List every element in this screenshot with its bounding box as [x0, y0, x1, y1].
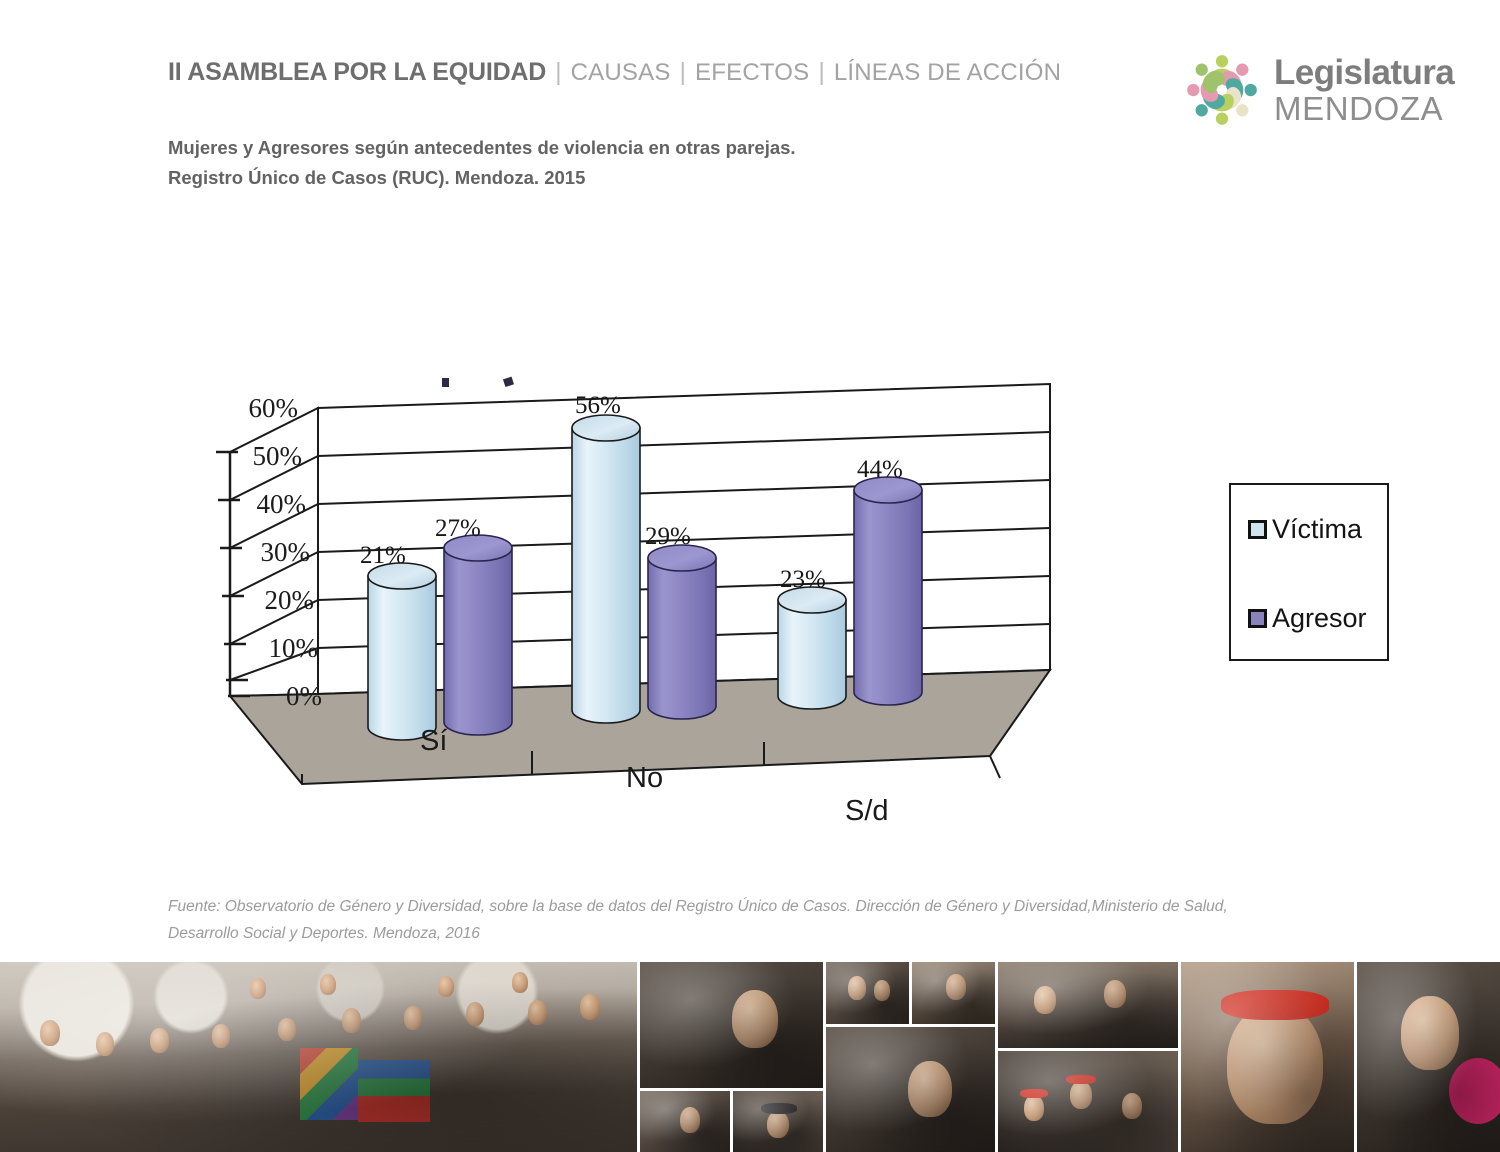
circular-people-rosette-icon [1181, 49, 1263, 131]
data-label-si-agresor: 27% [435, 515, 481, 543]
photo-woman-short-hair-speaking [826, 1027, 995, 1152]
bar-no-victima [572, 415, 640, 723]
bar-si-victima [368, 563, 436, 740]
y-tick-60: 60% [188, 393, 298, 424]
wiphala-flag [300, 1048, 358, 1120]
photo-two-women-desk [826, 962, 909, 1024]
source-line-2: Desarrollo Social y Deportes. Mendoza, 2… [168, 920, 1418, 947]
photo-col-2 [826, 962, 995, 1152]
photo-elder-woman-red-headband [1181, 962, 1354, 1152]
data-label-si-victima: 21% [360, 542, 406, 570]
legend-label-agresor: Agresor [1272, 603, 1367, 634]
header-item-efectos: EFECTOS [695, 59, 809, 87]
chart-3d-cylinder: 60% 50% 40% 30% 20% 10% 0% [190, 370, 1110, 850]
logo-wordmark: Legislatura MENDOZA [1274, 55, 1454, 125]
subtitle-line-2: Registro Único de Casos (RUC). Mendoza. … [168, 163, 796, 193]
bar-sd-agresor [854, 477, 922, 705]
slide-page: II ASAMBLEA POR LA EQUIDAD | CAUSAS | EF… [0, 0, 1500, 1152]
photo-blonde-woman-pink-sign [1357, 962, 1500, 1152]
logo-line-2: MENDOZA [1274, 92, 1454, 125]
photo-women-audience [640, 1091, 730, 1152]
legend-item-agresor[interactable]: Agresor [1248, 603, 1367, 634]
photo-collage-strip [0, 962, 1500, 1152]
photo-col-1 [640, 962, 823, 1152]
x-label-sd: S/d [845, 795, 889, 828]
header-separator-1: | [546, 58, 571, 87]
y-tick-0: 0% [212, 681, 322, 712]
photo-col-3 [998, 962, 1178, 1152]
y-tick-10: 10% [208, 633, 318, 664]
x-label-si: Sí [420, 725, 447, 758]
page-header: II ASAMBLEA POR LA EQUIDAD | CAUSAS | EF… [168, 58, 1061, 87]
legend-item-victima[interactable]: Víctima [1248, 514, 1362, 545]
source-note: Fuente: Observatorio de Género y Diversi… [168, 893, 1418, 947]
photo-row-1 [640, 1091, 823, 1152]
legend-swatch-victima [1248, 520, 1267, 539]
photo-row-2 [826, 962, 995, 1024]
data-label-no-agresor: 29% [645, 523, 691, 551]
data-label-sd-victima: 23% [780, 566, 826, 594]
header-item-lineas-de-accion: LÍNEAS DE ACCIÓN [834, 59, 1061, 87]
subtitle-line-1: Mujeres y Agresores según antecedentes d… [168, 133, 796, 163]
y-tick-20: 20% [204, 585, 314, 616]
bar-sd-victima [778, 587, 846, 709]
photo-blonde-glasses-speaking [912, 962, 995, 1024]
x-label-no: No [626, 762, 663, 795]
y-tick-30: 30% [200, 537, 310, 568]
photo-indigenous-women-group [998, 1051, 1178, 1152]
header-separator-3: | [809, 58, 834, 87]
photo-blonde-and-man-seated [998, 962, 1178, 1048]
photo-group-assembly [0, 962, 637, 1152]
data-label-sd-agresor: 44% [857, 456, 903, 484]
page-title: II ASAMBLEA POR LA EQUIDAD [168, 58, 546, 87]
chart-legend: Víctima Agresor [1229, 483, 1389, 661]
logo-line-1: Legislatura [1274, 55, 1454, 90]
photo-person-hat-seated [733, 1091, 823, 1152]
legend-swatch-agresor [1248, 609, 1267, 628]
legend-label-victima: Víctima [1272, 514, 1362, 545]
bar-no-agresor [648, 545, 716, 719]
y-tick-50: 50% [192, 441, 302, 472]
chart-subtitle: Mujeres y Agresores según antecedentes d… [168, 133, 796, 192]
mapuche-flag [358, 1060, 430, 1122]
header-item-causas: CAUSAS [571, 59, 671, 87]
header-separator-2: | [671, 58, 696, 87]
source-line-1: Fuente: Observatorio de Género y Diversi… [168, 893, 1418, 920]
bar-si-agresor [444, 535, 512, 735]
data-label-no-victima: 56% [575, 392, 621, 420]
header-items: | CAUSAS | EFECTOS | LÍNEAS DE ACCIÓN [546, 58, 1061, 87]
photo-woman-speaking-mic [640, 962, 823, 1088]
y-tick-40: 40% [196, 489, 306, 520]
legislatura-mendoza-logo: Legislatura MENDOZA [1181, 49, 1454, 131]
